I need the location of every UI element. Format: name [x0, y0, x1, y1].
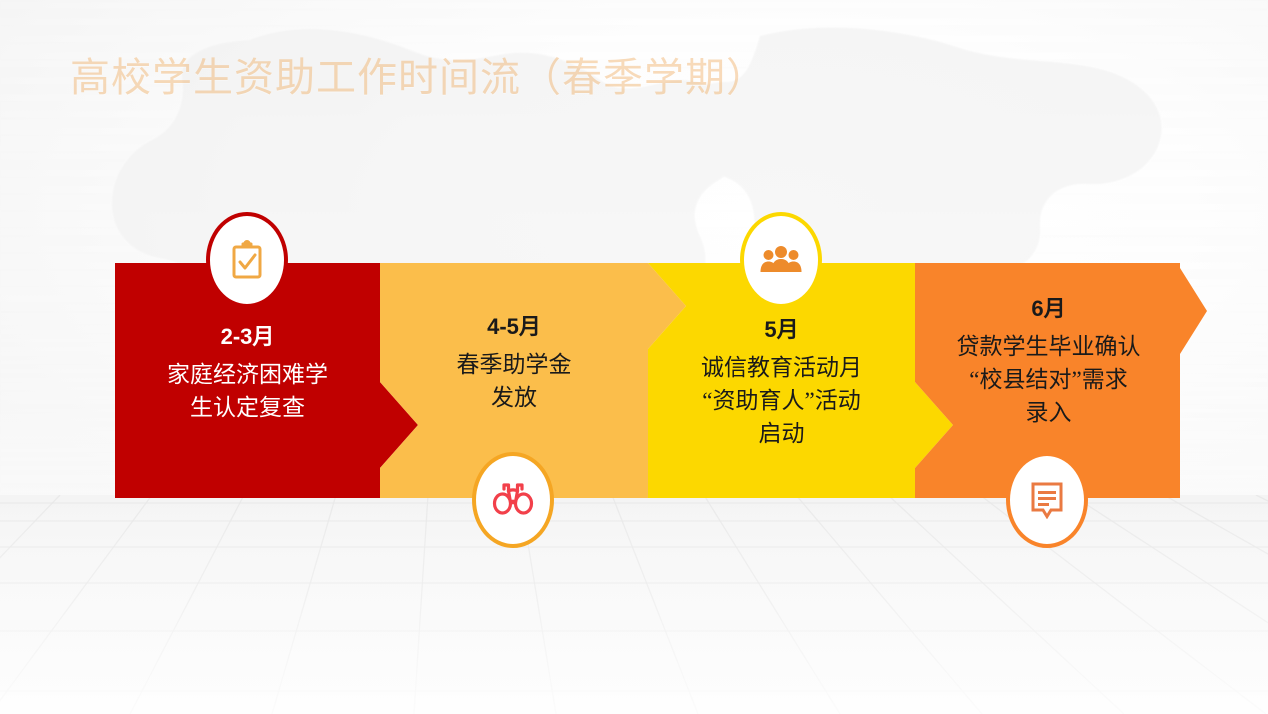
binoculars-icon — [492, 482, 534, 518]
page-title: 高校学生资助工作时间流（春季学期） — [70, 52, 767, 104]
speech-bubble-lines-icon — [1029, 481, 1065, 519]
people-group-icon — [759, 245, 803, 275]
segment-1-icon-bubble[interactable] — [206, 212, 288, 308]
presentation-slide: 高校学生资助工作时间流（春季学期） 2-3月 家庭经济困难学 生认定复查 4-5… — [0, 0, 1268, 714]
clipboard-check-icon — [230, 240, 264, 280]
segment-4-icon-bubble[interactable] — [1006, 452, 1088, 548]
segment-2-icon-bubble[interactable] — [472, 452, 554, 548]
segment-3-icon-bubble[interactable] — [740, 212, 822, 308]
